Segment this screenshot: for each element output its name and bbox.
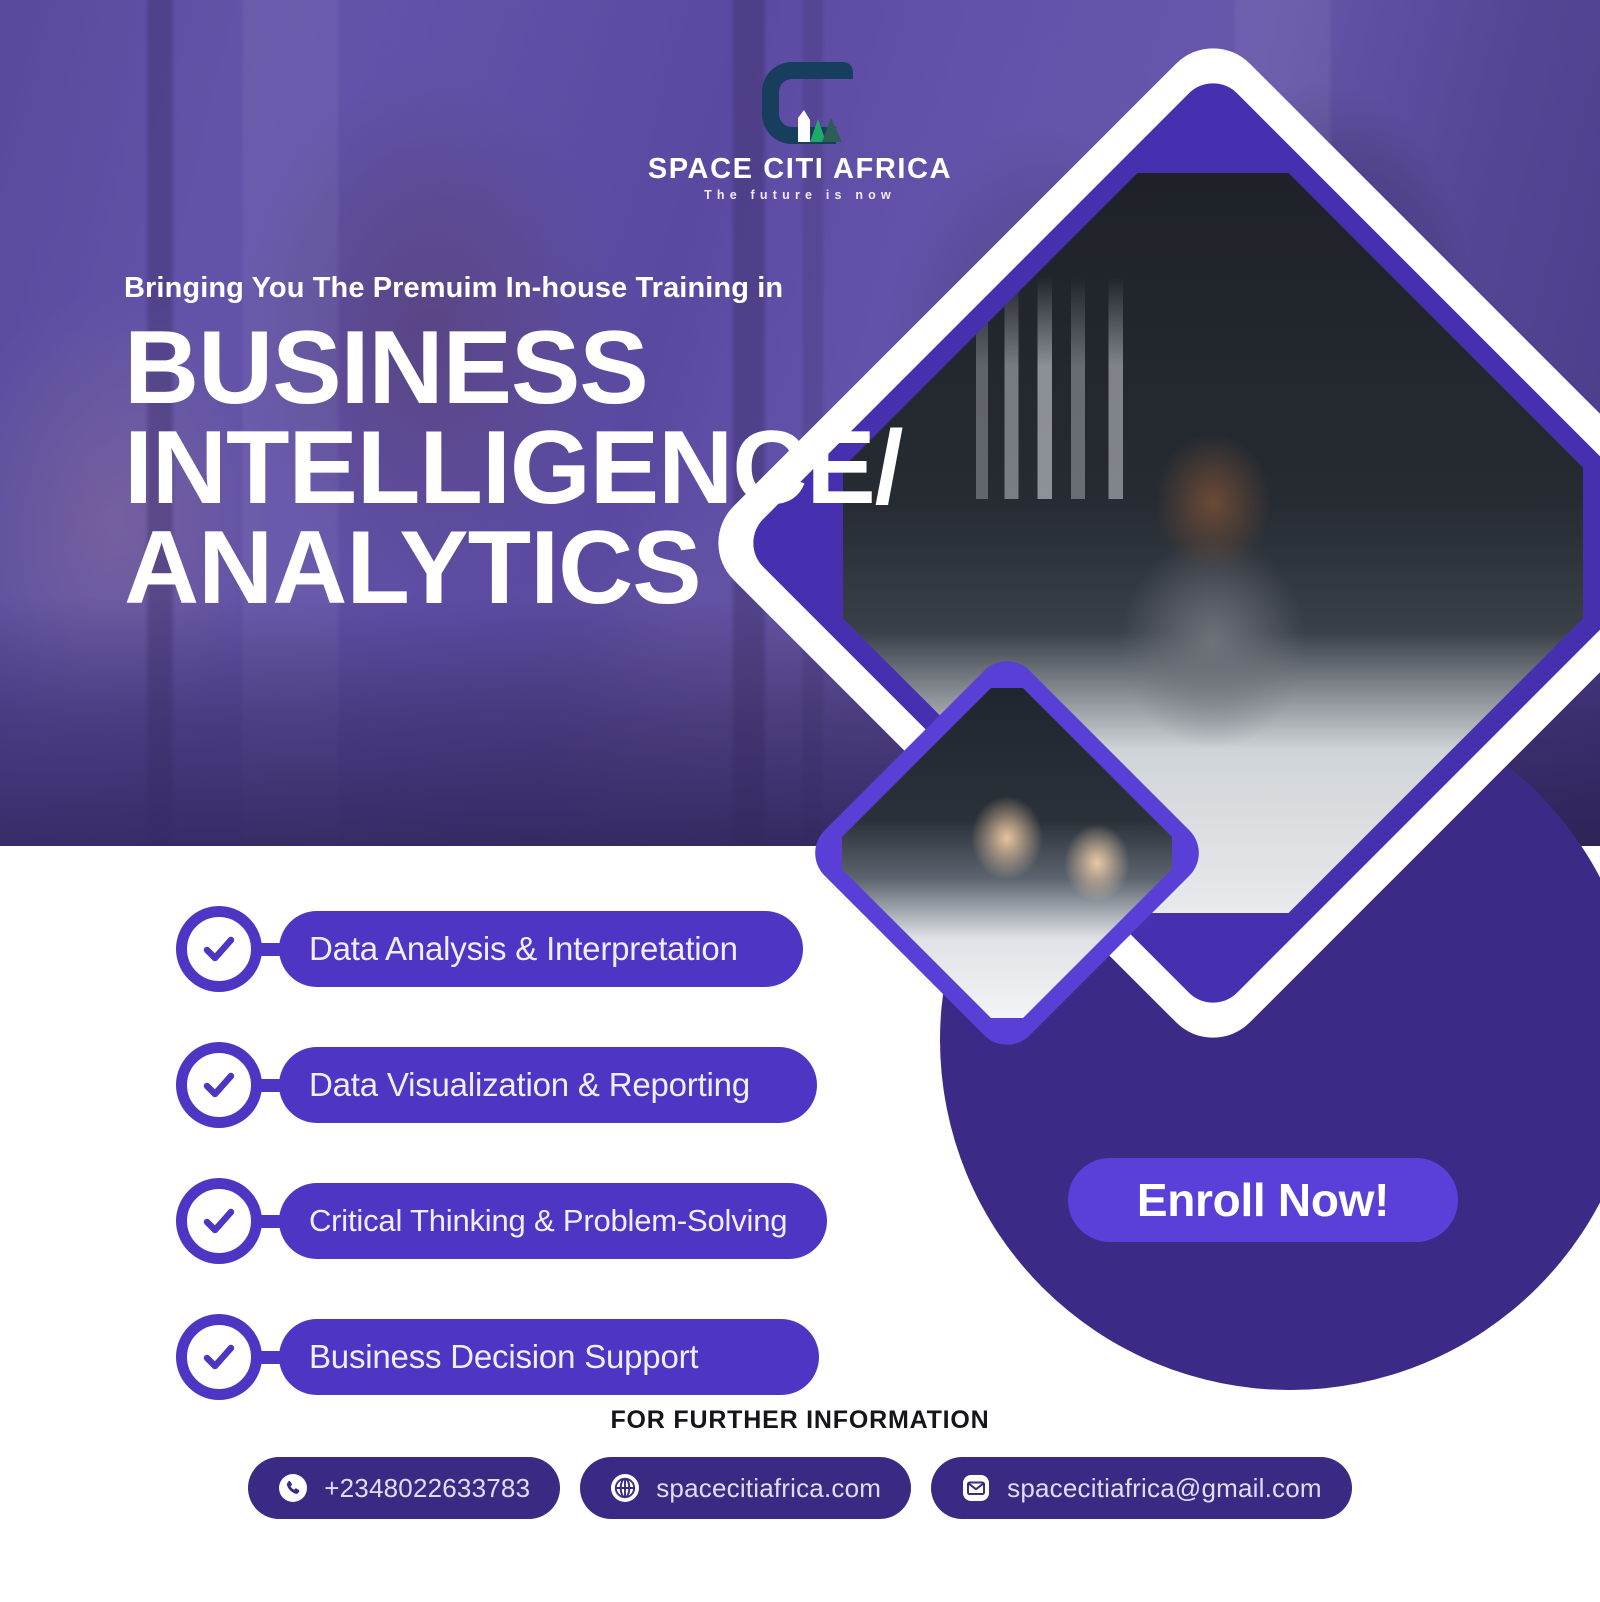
contact-website[interactable]: spacecitiafrica.com	[580, 1457, 911, 1519]
check-circle-icon	[176, 1314, 262, 1400]
headline-line-2: INTELLIGENCE/	[124, 419, 954, 519]
footer-heading: FOR FURTHER INFORMATION	[0, 1406, 1600, 1435]
contact-email[interactable]: spacecitiafrica@gmail.com	[931, 1457, 1352, 1519]
website-value: spacecitiafrica.com	[656, 1473, 881, 1504]
contact-row: +2348022633783 spacecitiafrica.com	[0, 1457, 1600, 1519]
feature-label[interactable]: Data Analysis & Interpretation	[279, 911, 803, 987]
feature-label[interactable]: Business Decision Support	[279, 1319, 819, 1395]
list-item[interactable]: Data Analysis & Interpretation	[176, 900, 856, 998]
phone-icon	[278, 1473, 308, 1503]
feature-list: Data Analysis & Interpretation Data Visu…	[176, 900, 856, 1444]
footer-section: FOR FURTHER INFORMATION +2348022633783	[0, 1406, 1600, 1519]
connector-bar	[260, 943, 282, 956]
email-value: spacecitiafrica@gmail.com	[1007, 1473, 1322, 1504]
headline-line-1: BUSINESS	[124, 319, 954, 419]
connector-bar	[260, 1079, 282, 1092]
headline-line-3: ANALYTICS	[124, 519, 954, 619]
check-circle-icon	[176, 1042, 262, 1128]
list-item[interactable]: Critical Thinking & Problem-Solving	[176, 1172, 856, 1270]
brand-tagline: The future is now	[0, 188, 1600, 202]
globe-icon	[610, 1473, 640, 1503]
phone-value: +2348022633783	[324, 1473, 530, 1504]
list-item[interactable]: Business Decision Support	[176, 1308, 856, 1406]
email-icon	[961, 1473, 991, 1503]
list-item[interactable]: Data Visualization & Reporting	[176, 1036, 856, 1134]
headline-block: Bringing You The Premuim In-house Traini…	[124, 272, 954, 618]
space-citi-africa-logo-icon	[744, 62, 856, 146]
contact-phone[interactable]: +2348022633783	[248, 1457, 560, 1519]
check-circle-icon	[176, 906, 262, 992]
brand-logo[interactable]: SPACE CITI AFRICA The future is now	[0, 62, 1600, 202]
connector-bar	[260, 1351, 282, 1364]
flyer-canvas: SPACE CITI AFRICA The future is now Brin…	[0, 0, 1600, 1602]
connector-bar	[260, 1215, 282, 1228]
enroll-now-button[interactable]: Enroll Now!	[1068, 1158, 1458, 1242]
headline-kicker: Bringing You The Premuim In-house Traini…	[124, 272, 954, 305]
brand-name: SPACE CITI AFRICA	[0, 154, 1600, 184]
check-circle-icon	[176, 1178, 262, 1264]
feature-label[interactable]: Critical Thinking & Problem-Solving	[279, 1183, 827, 1259]
feature-label[interactable]: Data Visualization & Reporting	[279, 1047, 817, 1123]
logo-mountain-peaks-icon	[788, 106, 846, 142]
page-title: BUSINESS INTELLIGENCE/ ANALYTICS	[124, 319, 954, 618]
